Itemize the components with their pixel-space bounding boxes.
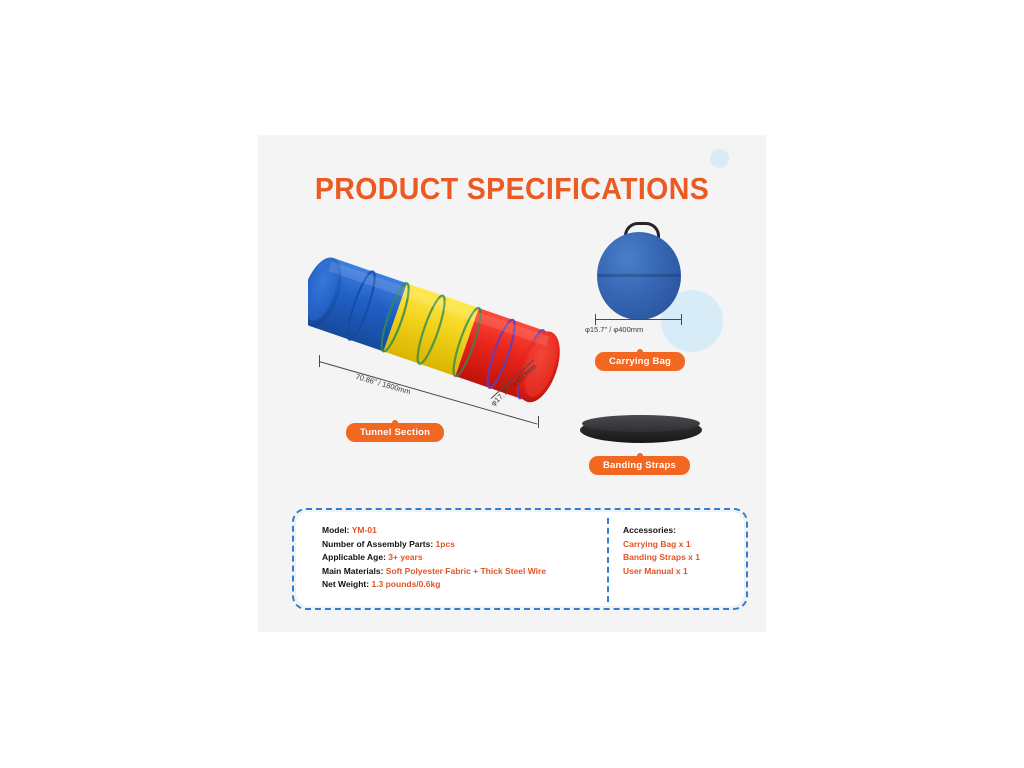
spec-row-model: Model: YM-01 — [322, 524, 546, 538]
strap-disc-top — [582, 415, 700, 432]
badge-tunnel-section: Tunnel Section — [346, 423, 444, 442]
spec-value: 1pcs — [436, 539, 455, 549]
spec-key: Applicable Age: — [322, 552, 386, 562]
carrying-bag-illustration — [584, 220, 694, 330]
spec-value: Soft Polyester Fabric + Thick Steel Wire — [386, 566, 546, 576]
accessories-list: Accessories: Carrying Bag x 1 Banding St… — [623, 524, 700, 578]
spec-row-main-materials: Main Materials: Soft Polyester Fabric + … — [322, 565, 546, 579]
bag-diameter-tick-right — [681, 314, 682, 325]
badge-carrying-bag: Carrying Bag — [595, 352, 685, 371]
accessories-heading: Accessories: — [623, 524, 700, 538]
spec-key: Net Weight: — [322, 579, 369, 589]
page-canvas: PRODUCT SPECIFICATIONS — [0, 0, 1024, 768]
tunnel-length-tick-right — [538, 416, 539, 428]
banding-straps-illustration — [576, 413, 706, 453]
accessory-item: Banding Straps x 1 — [623, 551, 700, 565]
tunnel-length-tick-left — [319, 355, 320, 367]
spec-row-net-weight: Net Weight: 1.3 pounds/0.6kg — [322, 578, 546, 592]
badge-banding-straps: Banding Straps — [589, 456, 690, 475]
spec-panel-column-divider — [607, 518, 609, 602]
page-title: PRODUCT SPECIFICATIONS — [278, 171, 745, 207]
bag-diameter-label: φ15.7" / φ400mm — [585, 325, 643, 334]
spec-key: Number of Assembly Parts: — [322, 539, 433, 549]
spec-value: 1.3 pounds/0.6kg — [371, 579, 440, 589]
spec-key: Model: — [322, 525, 349, 535]
spec-row-applicable-age: Applicable Age: 3+ years — [322, 551, 546, 565]
specifications-list: Model: YM-01 Number of Assembly Parts: 1… — [322, 524, 546, 592]
decorative-circle-small — [710, 149, 729, 168]
accessory-item: Carrying Bag x 1 — [623, 538, 700, 552]
bag-diameter-tick-left — [595, 314, 596, 325]
product-specifications-card: PRODUCT SPECIFICATIONS — [258, 135, 766, 632]
accessory-item: User Manual x 1 — [623, 565, 700, 579]
spec-value: YM-01 — [352, 525, 377, 535]
spec-key: Main Materials: — [322, 566, 383, 576]
spec-value: 3+ years — [388, 552, 422, 562]
bag-seam — [598, 274, 680, 277]
spec-row-assembly-parts: Number of Assembly Parts: 1pcs — [322, 538, 546, 552]
bag-diameter-dimension-line — [595, 319, 681, 320]
